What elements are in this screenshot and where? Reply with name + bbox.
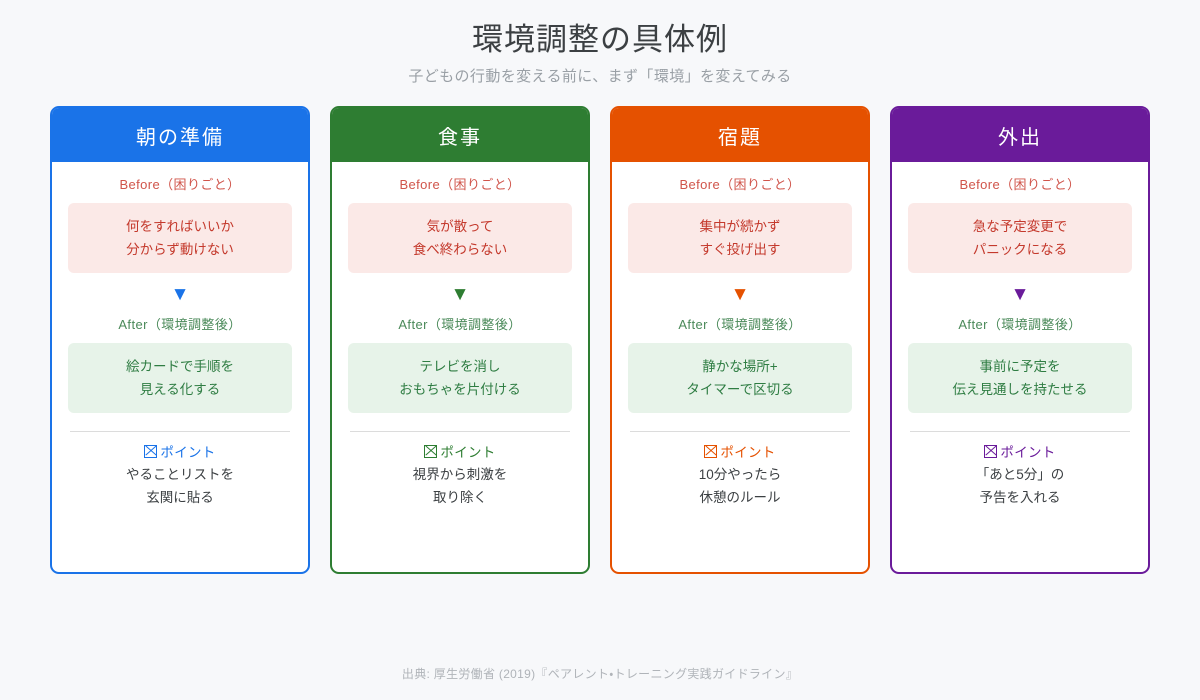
after-line-2: 伝え見通しを持たせる [914, 378, 1126, 401]
point-title-label: ポイント [720, 445, 775, 460]
after-line-2: タイマーで区切る [634, 378, 846, 401]
card-body: Before（困りごと） 急な予定変更で パニックになる ▼ After（環境調… [892, 162, 1148, 572]
missing-glyph-box-icon [984, 445, 997, 458]
scenario-card-homework[interactable]: 宿題 Before（困りごと） 集中が続かず すぐ投げ出す ▼ After（環境… [610, 106, 870, 574]
before-line-2: すぐ投げ出す [634, 238, 846, 261]
point-line-2: 休憩のルール [628, 487, 852, 509]
down-triangle-icon: ▼ [68, 283, 292, 307]
point-line-1: 10分やったら [628, 464, 852, 486]
before-label: Before（困りごと） [348, 176, 572, 194]
before-label: Before（困りごと） [908, 176, 1132, 194]
before-line-1: 集中が続かず [634, 215, 846, 238]
page-subtitle: 子どもの行動を変える前に、まず「環境」を変えてみる [0, 66, 1200, 88]
page-header: 環境調整の具体例 子どもの行動を変える前に、まず「環境」を変えてみる [0, 0, 1200, 88]
before-line-2: 分からず動けない [74, 238, 286, 261]
before-line-1: 気が散って [354, 215, 566, 238]
before-line-1: 何をすればいいか [74, 215, 286, 238]
point-block: ポイント 視界から刺激を 取り除く [348, 443, 572, 509]
section-divider [70, 431, 290, 432]
before-label: Before（困りごと） [628, 176, 852, 194]
after-box: 絵カードで手順を 見える化する [68, 343, 292, 413]
card-header: 宿題 [612, 108, 868, 162]
after-label: After（環境調整後） [908, 316, 1132, 334]
point-title: ポイント [348, 443, 572, 463]
after-label: After（環境調整後） [68, 316, 292, 334]
point-line-1: 視界から刺激を [348, 464, 572, 486]
card-header: 朝の準備 [52, 108, 308, 162]
point-line-1: 「あと5分」の [908, 464, 1132, 486]
page-title: 環境調整の具体例 [0, 18, 1200, 62]
after-label: After（環境調整後） [348, 316, 572, 334]
down-triangle-icon: ▼ [908, 283, 1132, 307]
section-divider [350, 431, 570, 432]
section-divider [630, 431, 850, 432]
card-body: Before（困りごと） 何をすればいいか 分からず動けない ▼ After（環… [52, 162, 308, 572]
scenario-card-outing[interactable]: 外出 Before（困りごと） 急な予定変更で パニックになる ▼ After（… [890, 106, 1150, 574]
after-line-1: 事前に予定を [914, 355, 1126, 378]
card-body: Before（困りごと） 集中が続かず すぐ投げ出す ▼ After（環境調整後… [612, 162, 868, 572]
source-citation: 出典: 厚生労働省 (2019)『ペアレント・トレーニング実践ガイドライン』 [0, 665, 1200, 682]
point-title: ポイント [628, 443, 852, 463]
point-title-label: ポイント [440, 445, 495, 460]
point-title: ポイント [908, 443, 1132, 463]
after-line-1: テレビを消し [354, 355, 566, 378]
after-box: 静かな場所+ タイマーで区切る [628, 343, 852, 413]
missing-glyph-box-icon [424, 445, 437, 458]
point-title-label: ポイント [160, 445, 215, 460]
point-line-2: 取り除く [348, 487, 572, 509]
before-box: 何をすればいいか 分からず動けない [68, 203, 292, 273]
card-header: 外出 [892, 108, 1148, 162]
card-header: 食事 [332, 108, 588, 162]
before-box: 急な予定変更で パニックになる [908, 203, 1132, 273]
scenario-card-morning[interactable]: 朝の準備 Before（困りごと） 何をすればいいか 分からず動けない ▼ Af… [50, 106, 310, 574]
point-line-1: やることリストを [68, 464, 292, 486]
before-box: 気が散って 食べ終わらない [348, 203, 572, 273]
card-body: Before（困りごと） 気が散って 食べ終わらない ▼ After（環境調整後… [332, 162, 588, 572]
point-title: ポイント [68, 443, 292, 463]
missing-glyph-box-icon [704, 445, 717, 458]
before-line-2: パニックになる [914, 238, 1126, 261]
before-label: Before（困りごと） [68, 176, 292, 194]
after-box: テレビを消し おもちゃを片付ける [348, 343, 572, 413]
point-block: ポイント 10分やったら 休憩のルール [628, 443, 852, 509]
before-line-2: 食べ終わらない [354, 238, 566, 261]
after-line-2: おもちゃを片付ける [354, 378, 566, 401]
before-box: 集中が続かず すぐ投げ出す [628, 203, 852, 273]
down-triangle-icon: ▼ [348, 283, 572, 307]
after-label: After（環境調整後） [628, 316, 852, 334]
before-line-1: 急な予定変更で [914, 215, 1126, 238]
after-line-1: 絵カードで手順を [74, 355, 286, 378]
after-line-1: 静かな場所+ [634, 355, 846, 378]
section-divider [910, 431, 1130, 432]
after-box: 事前に予定を 伝え見通しを持たせる [908, 343, 1132, 413]
point-block: ポイント 「あと5分」の 予告を入れる [908, 443, 1132, 509]
point-title-label: ポイント [1000, 445, 1055, 460]
point-block: ポイント やることリストを 玄関に貼る [68, 443, 292, 509]
down-triangle-icon: ▼ [628, 283, 852, 307]
point-line-2: 玄関に貼る [68, 487, 292, 509]
after-line-2: 見える化する [74, 378, 286, 401]
cards-row: 朝の準備 Before（困りごと） 何をすればいいか 分からず動けない ▼ Af… [50, 106, 1150, 574]
scenario-card-meal[interactable]: 食事 Before（困りごと） 気が散って 食べ終わらない ▼ After（環境… [330, 106, 590, 574]
point-line-2: 予告を入れる [908, 487, 1132, 509]
missing-glyph-box-icon [144, 445, 157, 458]
